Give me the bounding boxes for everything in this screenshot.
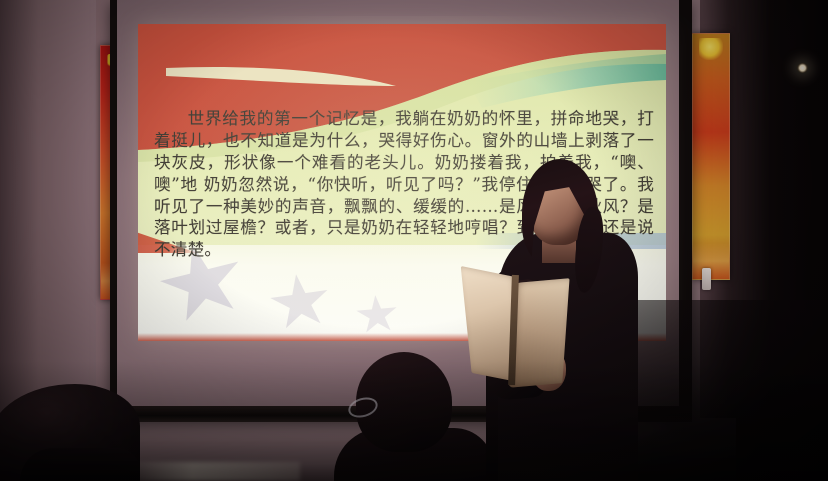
banner-right-footer	[693, 243, 729, 279]
banner-right-text	[693, 60, 729, 259]
audience-shadow-right	[618, 300, 828, 481]
golden-ornament-emblem-icon	[699, 38, 723, 60]
photo-scene: 世界给我的第一个记忆是，我躺在奶奶的怀里，拼命地哭，打着挺儿，也不知道是为什么，…	[0, 0, 828, 481]
floor-light-reflection	[120, 462, 300, 481]
ceiling-spot-light-icon	[797, 63, 808, 73]
open-book	[466, 267, 572, 383]
star-icon-small	[354, 293, 399, 337]
audience-member-left-body	[20, 448, 140, 481]
party-banner-right	[692, 33, 730, 280]
screen-edge-left	[110, 0, 117, 420]
presenter-reading	[480, 163, 640, 481]
wall-socket-icon	[702, 268, 711, 290]
star-icon-medium	[266, 270, 333, 335]
